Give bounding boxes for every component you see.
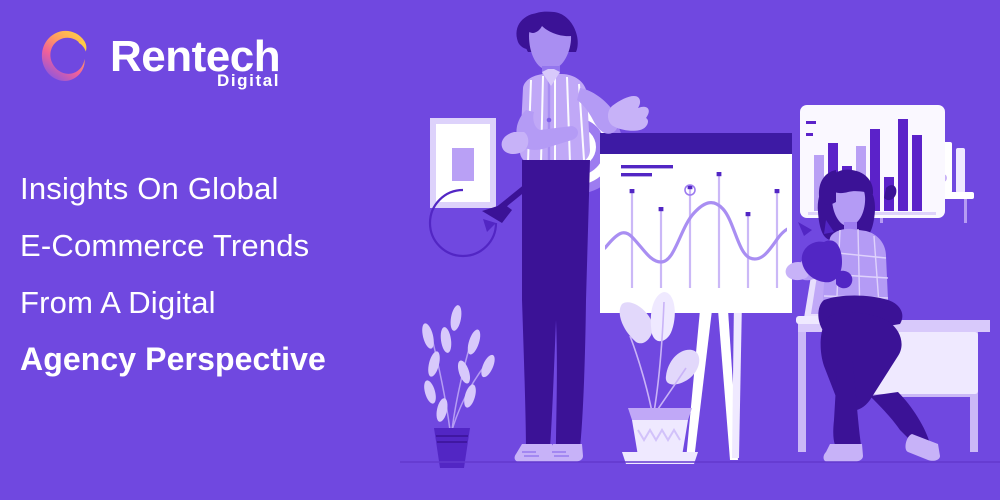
tall-vase-plant	[420, 304, 497, 468]
whiteboard-header-bar	[600, 133, 792, 154]
board-title-bar-1	[621, 165, 673, 168]
circular-arrow-head	[483, 219, 496, 232]
potted-plant	[620, 292, 700, 464]
vase-leaves	[420, 304, 497, 422]
board-title-bar-2	[621, 173, 652, 176]
c-crescent-gradient-icon	[34, 26, 96, 88]
picture-frame	[430, 118, 496, 208]
brand-subtitle: Digital	[217, 71, 280, 91]
headline-line-3: From A Digital	[20, 274, 450, 331]
promo-banner: Rentech Digital Insights On Global E-Com…	[0, 0, 1000, 500]
whiteboard-easel	[686, 300, 748, 460]
headline-emphasis: Agency Perspective	[20, 331, 450, 388]
headline-line-2: E-Commerce Trends	[20, 217, 450, 274]
brand-logo[interactable]: Rentech Digital	[34, 26, 280, 88]
headline-block: Insights On Global E-Commerce Trends Fro…	[20, 160, 450, 388]
brand-wordmark: Rentech Digital	[110, 35, 280, 79]
office-presentation-illustration	[400, 0, 1000, 500]
headline-line-1: Insights On Global	[20, 160, 450, 217]
whiteboard	[600, 133, 796, 313]
